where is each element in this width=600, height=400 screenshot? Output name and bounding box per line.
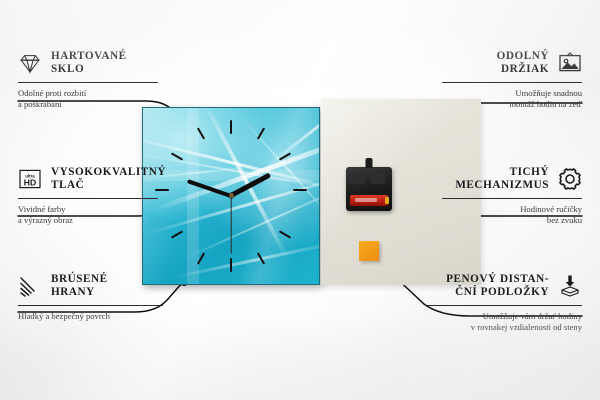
- picture-hanger-icon: [558, 51, 582, 75]
- feature-subtitle: Odolné proti rozbití a poškrábání: [18, 88, 158, 110]
- feature-subtitle: Umožňuje vám držať hodiny v rovnakej vzd…: [427, 311, 582, 333]
- feature-subtitle: Umožňuje snadnou montáž hodin na zeď: [442, 88, 582, 110]
- feature-title: PENOVÝ DISTAN- ČNÍ PODLOŽKY: [446, 273, 549, 300]
- divider: [442, 198, 582, 199]
- feature-title: ODOLNÝ DRŽIAK: [497, 50, 549, 77]
- feature-durable-hanger: ODOLNÝ DRŽIAK Umožňuje snadnou montáž ho…: [442, 50, 582, 110]
- feature-silent-mechanism: TICHÝ MECHANIZMUS Hodinové ručičky bez z…: [442, 166, 582, 226]
- mechanism-detail: [350, 173, 365, 184]
- divider: [427, 305, 582, 306]
- mechanism-detail: [370, 173, 385, 184]
- battery-part: [350, 195, 388, 206]
- feature-subtitle: Hladký a bezpečný povrch: [18, 311, 163, 322]
- divider: [18, 305, 163, 306]
- feature-hd-print: ultra HD VYSOKOKVALITNÝ TLAČ Vividné far…: [18, 166, 158, 226]
- feature-title: BRÚSENÉ HRANY: [51, 273, 108, 300]
- divider: [18, 82, 158, 83]
- divider: [18, 198, 158, 199]
- feature-foam-spacers: PENOVÝ DISTAN- ČNÍ PODLOŽKY Umožňuje vám…: [427, 273, 582, 333]
- diamond-icon: [18, 51, 42, 75]
- svg-text:HD: HD: [24, 178, 36, 188]
- foam-spacer-pad-part: [359, 241, 379, 261]
- battery-label: [355, 198, 377, 202]
- clock-mechanism-part: [346, 167, 392, 211]
- feature-title: VYSOKOKVALITNÝ TLAČ: [51, 166, 166, 193]
- spacer-pad-icon: [558, 274, 582, 298]
- gear-icon: [558, 167, 582, 191]
- mechanism-shaft: [366, 158, 373, 168]
- feature-title: TICHÝ MECHANIZMUS: [455, 166, 549, 193]
- feature-hardened-glass: HARTOVANÉ SKLO Odolné proti rozbití a po…: [18, 50, 158, 110]
- wall-clock-product: [142, 107, 320, 285]
- divider: [442, 82, 582, 83]
- feature-subtitle: Vividné farby a výrazný obraz: [18, 204, 158, 226]
- battery-terminal: [385, 197, 389, 204]
- feature-beveled-edges: BRÚSENÉ HRANY Hladký a bezpečný povrch: [18, 273, 163, 322]
- clock-center-hub: [229, 193, 234, 198]
- feature-title: HARTOVANÉ SKLO: [51, 50, 127, 77]
- promo-infographic: HARTOVANÉ SKLO Odolné proti rozbití a po…: [0, 0, 600, 400]
- ultra-hd-icon: ultra HD: [18, 167, 42, 191]
- feature-subtitle: Hodinové ručičky bez zvuku: [442, 204, 582, 226]
- clock-second-hand: [230, 196, 231, 254]
- beveled-edges-icon: [18, 274, 42, 298]
